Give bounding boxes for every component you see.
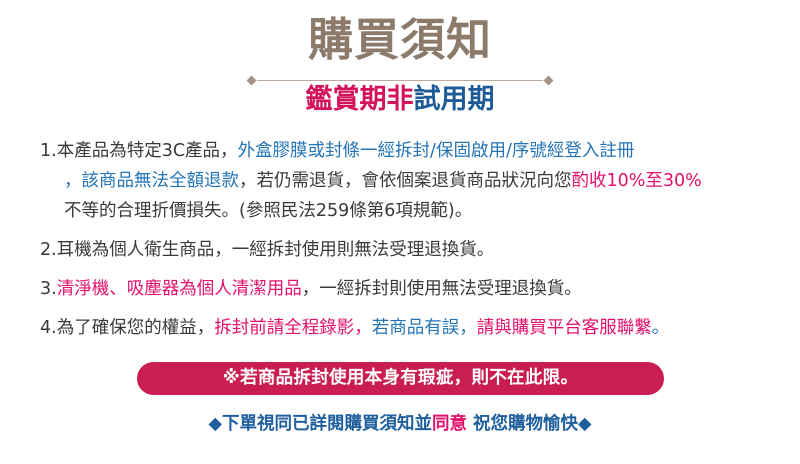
notice-text-highlight-blue: 若商品有誤， [372, 318, 477, 338]
footer-agreement: ◆下單視同已詳閱購買須知並同意 祝您購物愉快◆ [0, 410, 800, 438]
purchase-notice-page: 購買須知 鑑賞期非試用期 1.本產品為特定3C產品，外盒膠膜或封條一經拆封/保固… [0, 0, 800, 464]
list-item: 3.清淨機、吸塵器為個人清潔用品，一經拆封則使用無法受理退換貨。 [40, 274, 768, 304]
list-item: 4.為了確保您的權益，拆封前請全程錄影，若商品有誤，請與購買平台客服聯繫。 [40, 313, 768, 343]
list-item: 2.耳機為個人衛生商品，一經拆封使用則無法受理退換貨。 [40, 235, 768, 265]
notice-text: 為了確保您的權益， [57, 318, 215, 338]
notice-text-highlight-pink: 拆封前請全程錄影 [214, 318, 354, 338]
diamond-right-icon: ◆ [578, 414, 591, 434]
list-item-continuation: 不等的合理折價損失。(參照民法259條第6項規範)。 [40, 196, 768, 226]
page-title: 購買須知 [0, 12, 800, 68]
notice-list: 1.本產品為特定3C產品，外盒膠膜或封條一經拆封/保固啟用/序號經登入註冊 ，該… [40, 136, 768, 343]
notice-text: ，一經拆封則使用無法受理退換貨。 [302, 279, 582, 299]
footer-text-part1: 下單視同已詳閱購買須知並 [222, 414, 432, 434]
notice-text-highlight-pink: 酌收10%至30% [572, 171, 702, 191]
subtitle-pink-part: 鑑賞期非 [306, 84, 414, 115]
notice-text-highlight-blue: 外盒膠膜或封條一經拆封/保固啟用/序號經登入註冊 [238, 141, 635, 161]
diamond-left-icon: ◆ [208, 414, 221, 434]
notice-text: 本產品為特定3C產品， [57, 141, 238, 161]
list-item: 1.本產品為特定3C產品，外盒膠膜或封條一經拆封/保固啟用/序號經登入註冊 [40, 136, 768, 166]
notice-text-highlight-pink: 清淨機、吸塵器為個人清潔用品 [57, 279, 302, 299]
status-badge: ※若商品拆封使用本身有瑕疵，則不在此限。 [137, 362, 664, 395]
footer-text-part2: 祝您購物愉快 [467, 414, 578, 434]
footer-text-emphasis: 同意 [432, 414, 467, 434]
list-item-number: 4. [40, 318, 57, 338]
notice-text-highlight-blue: ，該商品無法全額退款 [64, 171, 239, 191]
list-item-number: 2. [40, 240, 57, 260]
list-item-number: 3. [40, 279, 57, 299]
notice-text: 耳機為個人衛生商品，一經拆封使用則無法受理退換貨。 [57, 240, 495, 260]
notice-text-highlight-pink: 請與購買平台客服聯繫 [477, 318, 652, 338]
notice-text: 不等的合理折價損失。(參照民法259條第6項規範)。 [64, 201, 472, 221]
notice-text: ，若仍需退貨，會依個案退貨商品狀況向您 [239, 171, 572, 191]
subtitle-blue-part: 試用期 [414, 84, 495, 115]
divider-rule [257, 80, 543, 81]
notice-text-period: 。 [652, 318, 670, 338]
notice-text-comma: ， [354, 318, 372, 338]
list-item-number: 1. [40, 141, 57, 161]
page-subtitle: 鑑賞期非試用期 [0, 83, 800, 117]
list-item-continuation: ，該商品無法全額退款，若仍需退貨，會依個案退貨商品狀況向您酌收10%至30% [40, 166, 768, 196]
